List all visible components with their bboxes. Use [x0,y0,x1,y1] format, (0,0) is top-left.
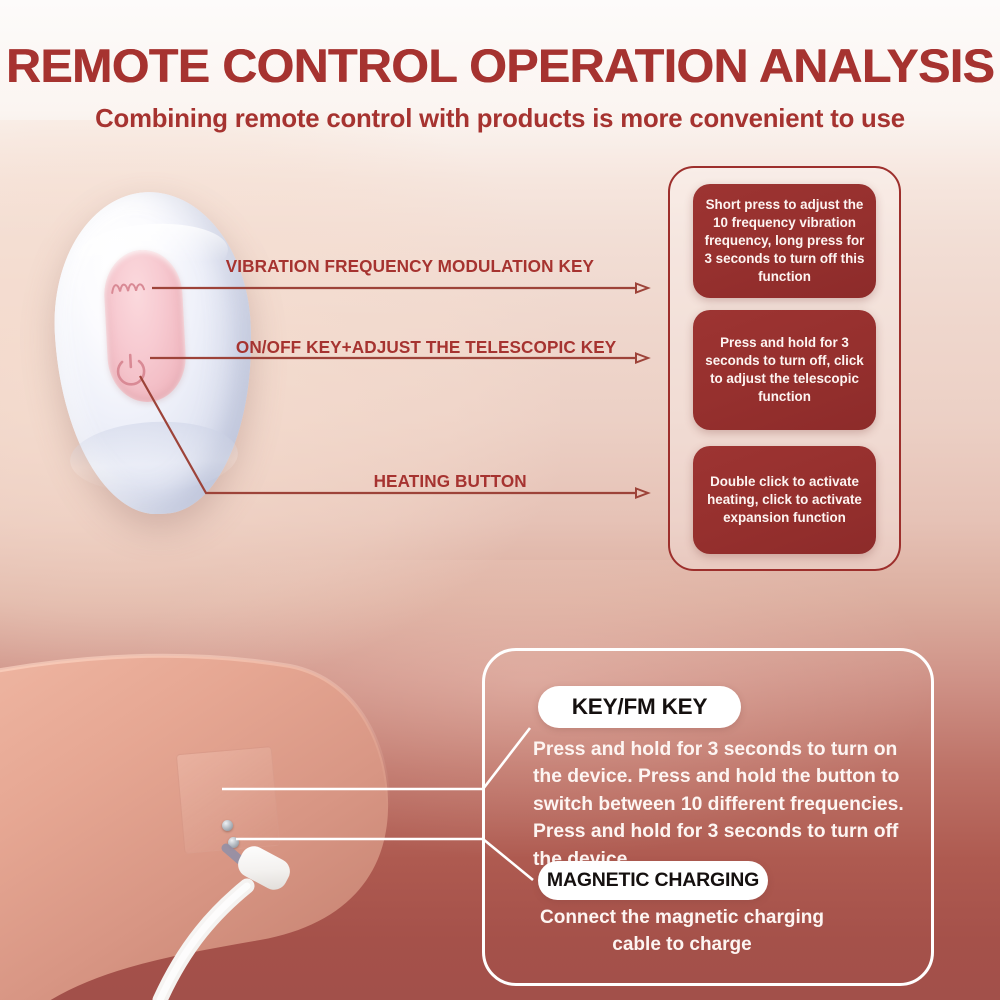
pill-key-fm: KEY/FM KEY [538,686,741,728]
text-key-fm: Press and hold for 3 seconds to turn on … [533,736,931,873]
page-title: REMOTE CONTROL OPERATION ANALYSIS [0,0,1000,89]
pill-magnetic-charging: MAGNETIC CHARGING [538,861,768,900]
magnetic-contact-pin [222,820,233,831]
text-magnetic-charging: Connect the magnetic charging cable to c… [524,905,840,959]
magnetic-contact-pin [228,837,239,848]
page-subtitle: Combining remote control with products i… [5,89,995,134]
infographic-canvas: REMOTE CONTROL OPERATION ANALYSIS Combin… [0,0,1000,1000]
description-chip-vibration: Short press to adjust the 10 frequency v… [693,184,876,298]
description-chip-onoff: Press and hold for 3 seconds to turn off… [693,310,876,430]
power-icon [113,351,149,389]
description-chip-heating: Double click to activate heating, click … [693,446,876,554]
vibration-wave-icon [110,279,151,299]
charging-port [176,746,280,854]
callout-label-vibration: VIBRATION FREQUENCY MODULATION KEY [226,256,594,277]
callout-label-heating: HEATING BUTTON [374,471,527,492]
header: REMOTE CONTROL OPERATION ANALYSIS Combin… [0,0,1000,134]
callout-label-onoff: ON/OFF KEY+ADJUST THE TELESCOPIC KEY [236,337,616,358]
